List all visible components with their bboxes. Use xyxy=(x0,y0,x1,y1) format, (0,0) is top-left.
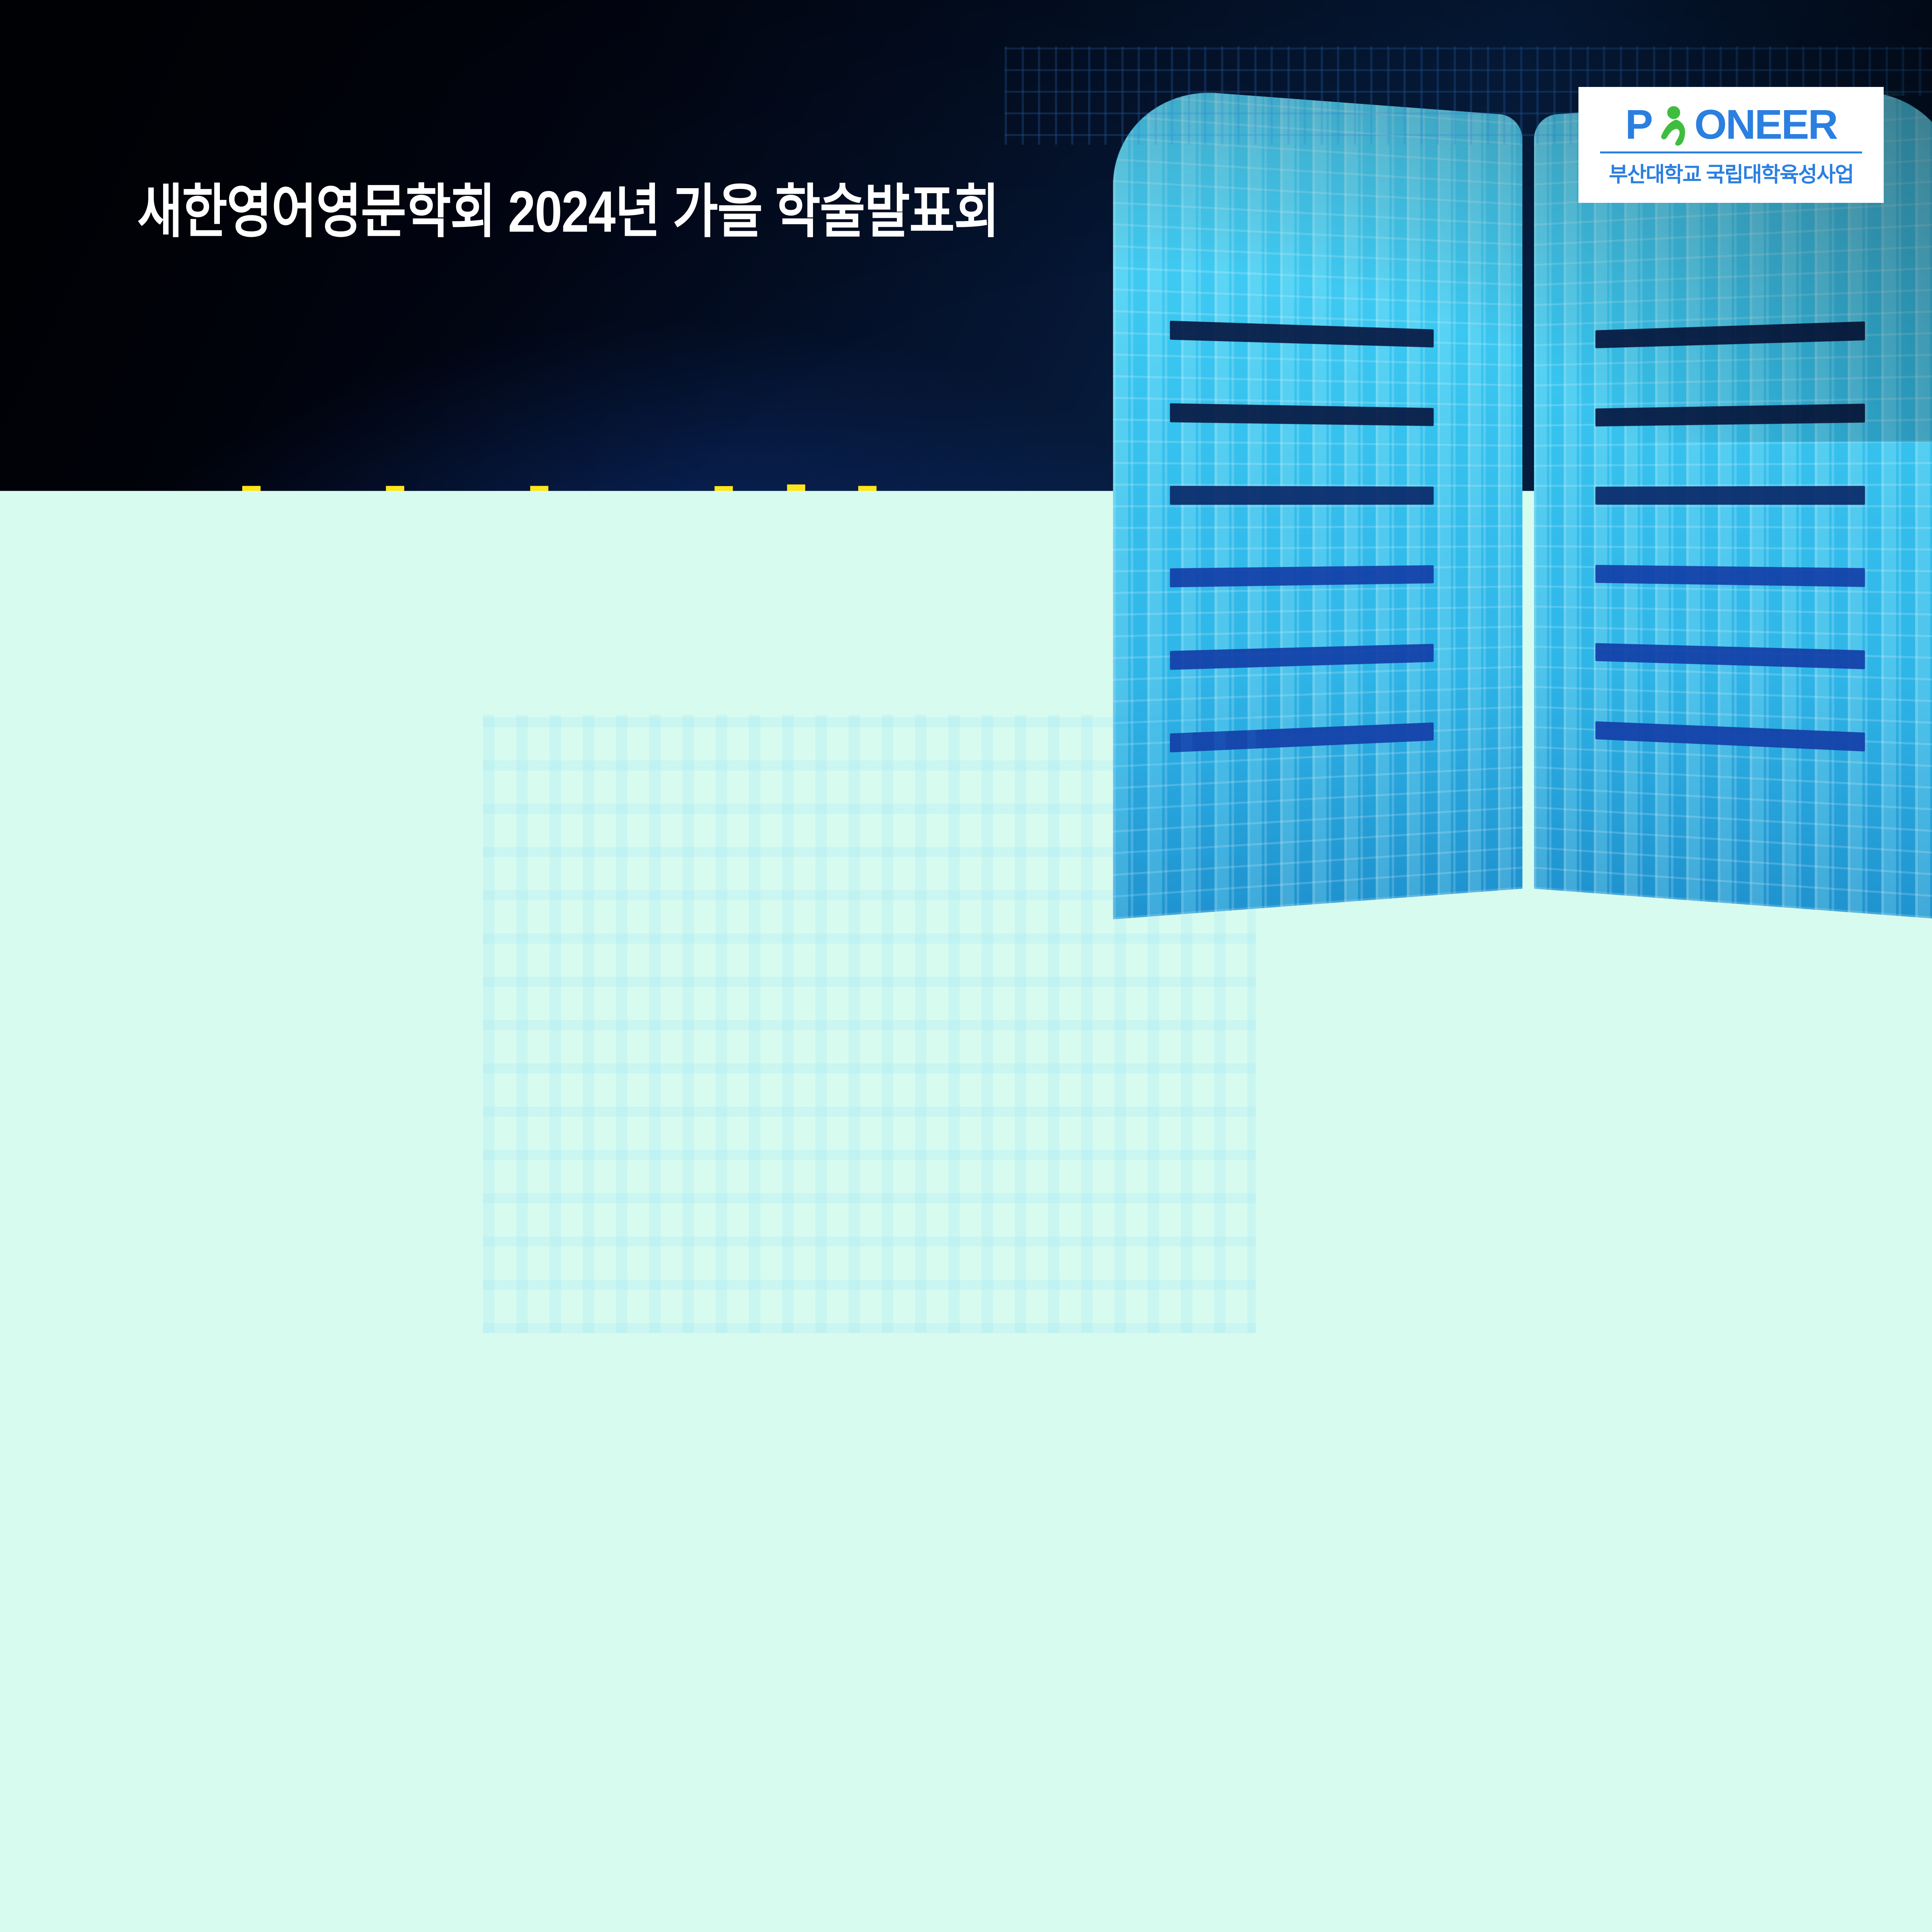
poster-title-korean-main: 디지털 변형: xyxy=(131,489,940,661)
date-day-unit: 일(토) xyxy=(628,1678,796,1774)
hero-section: 새한영어영문학회 2024년 가을 학술발표회 P ONEER 부산대학교 국립… xyxy=(0,0,1932,1527)
pioneer-wordmark: P ONEER xyxy=(1625,104,1837,145)
running-person-icon xyxy=(1650,104,1694,147)
pioneer-logo: P ONEER 부산대학교 국립대학육성사업 xyxy=(1578,87,1884,203)
venue-info-block: 장소: 부산대학교 인문관 xyxy=(1103,1569,1235,1661)
poster-subtitle-korean-line2: 문학과 언어의 재구성 xyxy=(131,900,959,1060)
poster-title-english: Digital Metamorphosis: Reimagining Liter… xyxy=(120,1163,1218,1434)
english-line-3: in the New Media Ecosystem xyxy=(120,1344,1218,1434)
conference-poster: 새한영어영문학회 2024년 가을 학술발표회 P ONEER 부산대학교 국립… xyxy=(0,0,1932,1932)
pioneer-letter-p: P xyxy=(1625,104,1652,145)
date-day: 12 xyxy=(541,1665,628,1776)
date-info-block: 일시: 2024년 10월 12일(토) 11:30-18:00 xyxy=(145,1569,277,1661)
time-value: 11:30-18:00 xyxy=(145,1758,490,1854)
pioneer-wordmark-rest: ONEER xyxy=(1694,104,1837,145)
pioneer-subtitle: 부산대학교 국립대학육성사업 xyxy=(1609,157,1854,188)
english-line-1: Digital Metamorphosis: xyxy=(120,1163,1218,1253)
pioneer-divider xyxy=(1600,151,1862,153)
info-divider xyxy=(1010,1580,1020,1851)
english-line-2: Reimagining Literature and Language xyxy=(120,1253,1218,1344)
event-header-line: 새한영어영문학회 2024년 가을 학술발표회 xyxy=(137,164,999,248)
venue-value: 부산대학교 인문관 xyxy=(1103,1658,1625,1782)
